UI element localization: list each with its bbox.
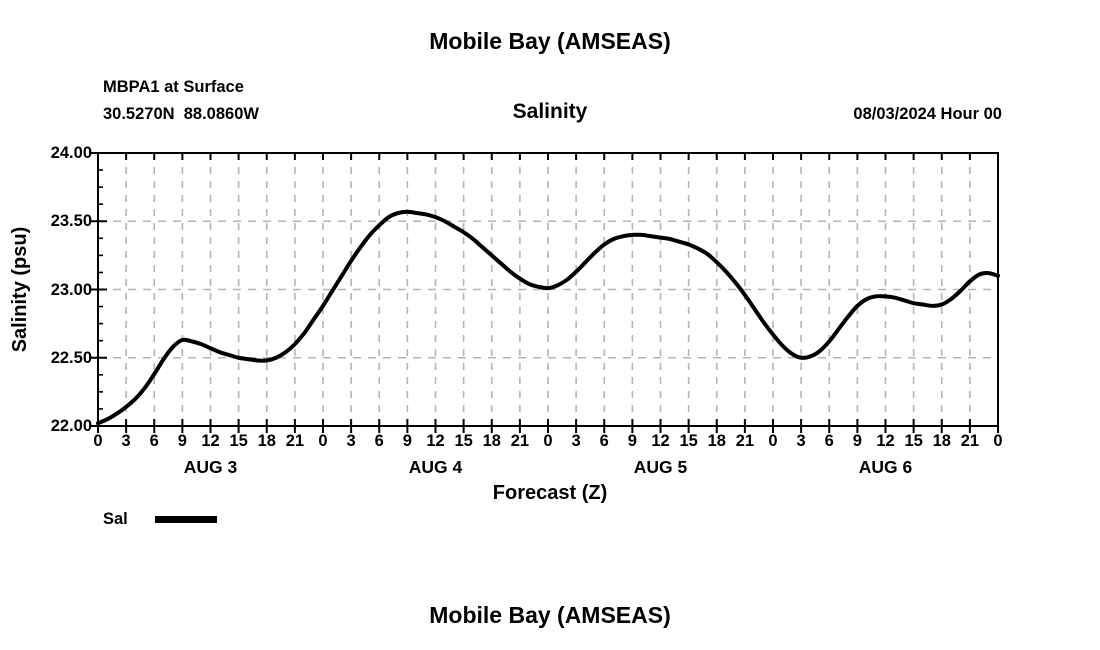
chart-page: Mobile Bay (AMSEAS) MBPA1 at Surface 30.… — [0, 0, 1100, 650]
x-tick-label: 0 — [978, 432, 1018, 451]
legend-label-sal: Sal — [103, 510, 151, 529]
x-axis-day-label: AUG 5 — [591, 457, 731, 478]
y-tick-label: 23.50 — [14, 212, 92, 231]
station-label: MBPA1 at Surface — [103, 78, 244, 97]
y-axis-ticks: 22.0022.5023.0023.5024.00 — [8, 153, 92, 426]
x-axis-day-labels: AUG 3AUG 4AUG 5AUG 6 — [98, 457, 998, 481]
page-title-bottom: Mobile Bay (AMSEAS) — [0, 602, 1100, 629]
x-axis-ticks: 0369121518210369121518210369121518210369… — [98, 432, 998, 456]
salinity-line-chart — [98, 153, 998, 426]
page-title-top: Mobile Bay (AMSEAS) — [0, 28, 1100, 55]
plot-area — [98, 153, 998, 426]
chart-legend: Sal — [103, 508, 217, 530]
x-axis-day-label: AUG 3 — [141, 457, 281, 478]
y-tick-label: 22.50 — [14, 349, 92, 368]
legend-swatch-sal — [155, 516, 217, 523]
top-axis-ticks — [98, 153, 998, 160]
x-axis-day-label: AUG 6 — [816, 457, 956, 478]
x-axis-label: Forecast (Z) — [0, 482, 1100, 505]
y-tick-label: 24.00 — [14, 144, 92, 163]
model-run-time: 08/03/2024 Hour 00 — [853, 105, 1002, 124]
x-axis-day-label: AUG 4 — [366, 457, 506, 478]
y-tick-label: 23.00 — [14, 281, 92, 300]
